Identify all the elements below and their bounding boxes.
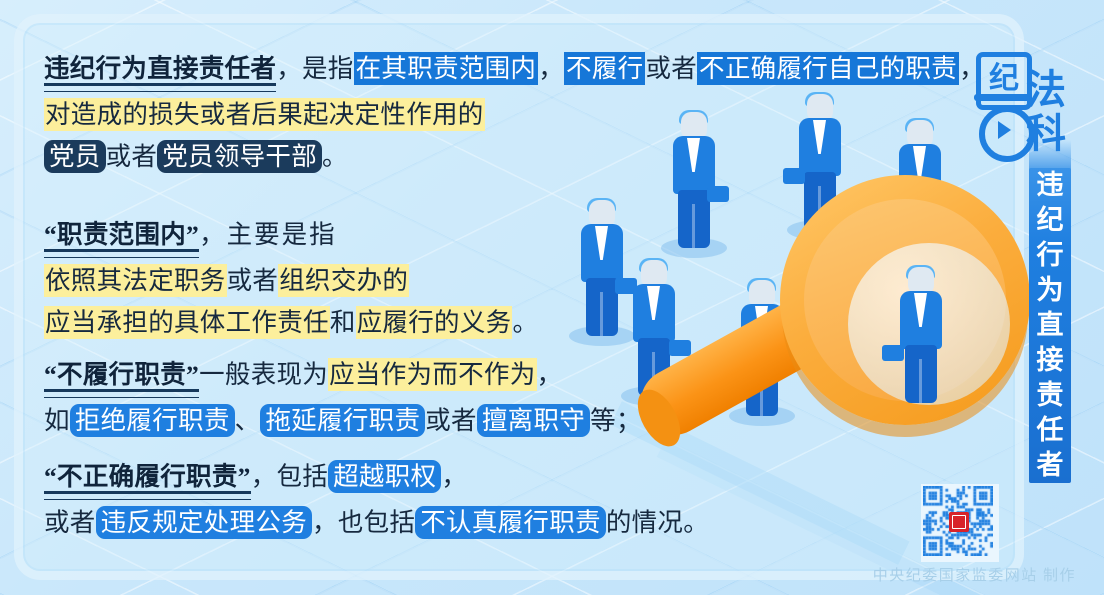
badge-refuse-duty: 拒绝履行职责 bbox=[70, 404, 235, 437]
text-run: 等； bbox=[590, 406, 642, 435]
poster-canvas: 违纪行为直接责任者，是指在其职责范围内，不履行或者不正确履行自己的职责， 对造成… bbox=[0, 0, 1104, 595]
text-run: 。 bbox=[322, 142, 348, 171]
magnifier-lens bbox=[848, 243, 1010, 405]
magnifier-ring-inner bbox=[804, 199, 1006, 401]
badge-party-member: 党员 bbox=[44, 140, 106, 173]
footer-credit: 中央纪委国家监委网站 制作 bbox=[873, 564, 1076, 585]
text-run: ，包括 bbox=[251, 462, 328, 491]
text-line: “不履行职责”一般表现为应当作为而不作为， bbox=[44, 354, 704, 396]
term-nonperformance: “不履行职责” bbox=[44, 360, 199, 389]
highlight-nonperformance: 不履行 bbox=[564, 52, 645, 85]
term-direct-responsible: 违纪行为直接责任者 bbox=[44, 54, 276, 83]
text-line: 依照其法定职务或者组织交办的 bbox=[44, 260, 704, 302]
banner-char: 行 bbox=[1037, 238, 1064, 273]
term-improper-performance: “不正确履行职责” bbox=[44, 462, 251, 491]
logo-chars-fa-ke: 法 科 bbox=[1026, 68, 1064, 156]
text-line: 如拒绝履行职责、拖延履行职责或者擅离职守等； bbox=[44, 400, 704, 442]
play-icon bbox=[998, 121, 1011, 139]
brand-logo[interactable]: 纪 法 科 bbox=[970, 52, 1090, 160]
banner-char: 直 bbox=[1037, 308, 1064, 343]
text-run: ， bbox=[441, 462, 467, 491]
badge-violate-rules: 违反规定处理公务 bbox=[96, 506, 312, 539]
vertical-title-banner: 违 纪 行 为 直 接 责 任 者 bbox=[1029, 168, 1071, 483]
paragraph-1: 违纪行为直接责任者，是指在其职责范围内，不履行或者不正确履行自己的职责， 对造成… bbox=[44, 48, 704, 178]
text-run: 或者 bbox=[44, 508, 96, 537]
banner-char: 纪 bbox=[1037, 203, 1064, 238]
qr-center-seal bbox=[949, 512, 969, 532]
figure-leg-split bbox=[919, 359, 922, 403]
figure-briefcase bbox=[882, 345, 904, 361]
text-run: 。 bbox=[512, 308, 538, 337]
text-line: 违纪行为直接责任者，是指在其职责范围内，不履行或者不正确履行自己的职责， bbox=[44, 48, 704, 90]
text-run: 或者 bbox=[106, 142, 158, 171]
magnifying-glass-icon bbox=[650, 175, 1020, 515]
banner-char: 接 bbox=[1037, 343, 1064, 378]
highlight-specific-work-duty: 应当承担的具体工作责任 bbox=[44, 306, 330, 339]
person-figure-magnified bbox=[894, 267, 956, 417]
badge-abandon-post: 擅离职守 bbox=[477, 404, 590, 437]
banner-char: 任 bbox=[1037, 413, 1064, 448]
paragraph-2: “职责范围内”，主要是指 依照其法定职务或者组织交办的 应当承担的具体工作责任和… bbox=[44, 214, 704, 344]
magnifier-ring bbox=[780, 175, 1030, 425]
text-run: 如 bbox=[44, 406, 70, 435]
text-run: 或者 bbox=[425, 406, 477, 435]
logo-char-fa: 法 bbox=[1026, 68, 1064, 112]
text-line: 党员或者党员领导干部。 bbox=[44, 136, 704, 178]
banner-char: 违 bbox=[1037, 168, 1064, 203]
badge-delay-duty: 拖延履行职责 bbox=[260, 404, 425, 437]
text-run: ， bbox=[537, 360, 563, 389]
text-run: 、 bbox=[235, 406, 261, 435]
text-line: 或者违反规定处理公务，也包括不认真履行职责的情况。 bbox=[44, 502, 704, 544]
term-scope-of-duty: “职责范围内” bbox=[44, 220, 199, 249]
logo-char-ke: 科 bbox=[1026, 112, 1064, 156]
highlight-improper-performance: 不正确履行自己的职责 bbox=[697, 52, 959, 85]
badge-negligent-duty: 不认真履行职责 bbox=[415, 506, 606, 539]
badge-exceed-authority: 超越职权 bbox=[328, 460, 441, 493]
highlight-scope: 在其职责范围内 bbox=[354, 52, 539, 85]
badge-party-leader: 党员领导干部 bbox=[157, 140, 322, 173]
text-run: ，主要是指 bbox=[199, 220, 337, 249]
body-text: 违纪行为直接责任者，是指在其职责范围内，不履行或者不正确履行自己的职责， 对造成… bbox=[44, 48, 704, 544]
highlight-decisive-role: 对造成的损失或者后果起决定性作用的 bbox=[44, 98, 485, 131]
text-run: 和 bbox=[330, 308, 356, 337]
text-line: 对造成的损失或者后果起决定性作用的 bbox=[44, 94, 704, 136]
banner-char: 者 bbox=[1037, 448, 1064, 483]
text-line: “职责范围内”，主要是指 bbox=[44, 214, 704, 256]
paragraph-4: “不正确履行职责”，包括超越职权， 或者违反规定处理公务，也包括不认真履行职责的… bbox=[44, 456, 704, 544]
paragraph-3: “不履行职责”一般表现为应当作为而不作为， 如拒绝履行职责、拖延履行职责或者擅离… bbox=[44, 354, 704, 442]
highlight-should-act: 应当作为而不作为 bbox=[328, 358, 536, 391]
qr-code[interactable] bbox=[921, 484, 999, 562]
text-line: “不正确履行职责”，包括超越职权， bbox=[44, 456, 704, 498]
highlight-legal-duty: 依照其法定职务 bbox=[44, 264, 227, 297]
text-run: ， bbox=[538, 54, 564, 83]
highlight-org-assigned: 组织交办的 bbox=[278, 264, 409, 297]
text-run: ，也包括 bbox=[312, 508, 415, 537]
text-run: 一般表现为 bbox=[199, 360, 328, 389]
logo-bai-bar bbox=[974, 94, 1030, 101]
text-run: ，是指 bbox=[276, 54, 353, 83]
logo-char-bai bbox=[974, 94, 1030, 152]
text-run: 的情况。 bbox=[606, 508, 709, 537]
banner-char: 为 bbox=[1037, 273, 1064, 308]
highlight-obligation: 应履行的义务 bbox=[356, 306, 513, 339]
banner-char: 责 bbox=[1037, 378, 1064, 413]
text-line: 应当承担的具体工作责任和应履行的义务。 bbox=[44, 302, 704, 344]
text-run: 或者 bbox=[645, 54, 697, 83]
text-run: 或者 bbox=[227, 266, 279, 295]
